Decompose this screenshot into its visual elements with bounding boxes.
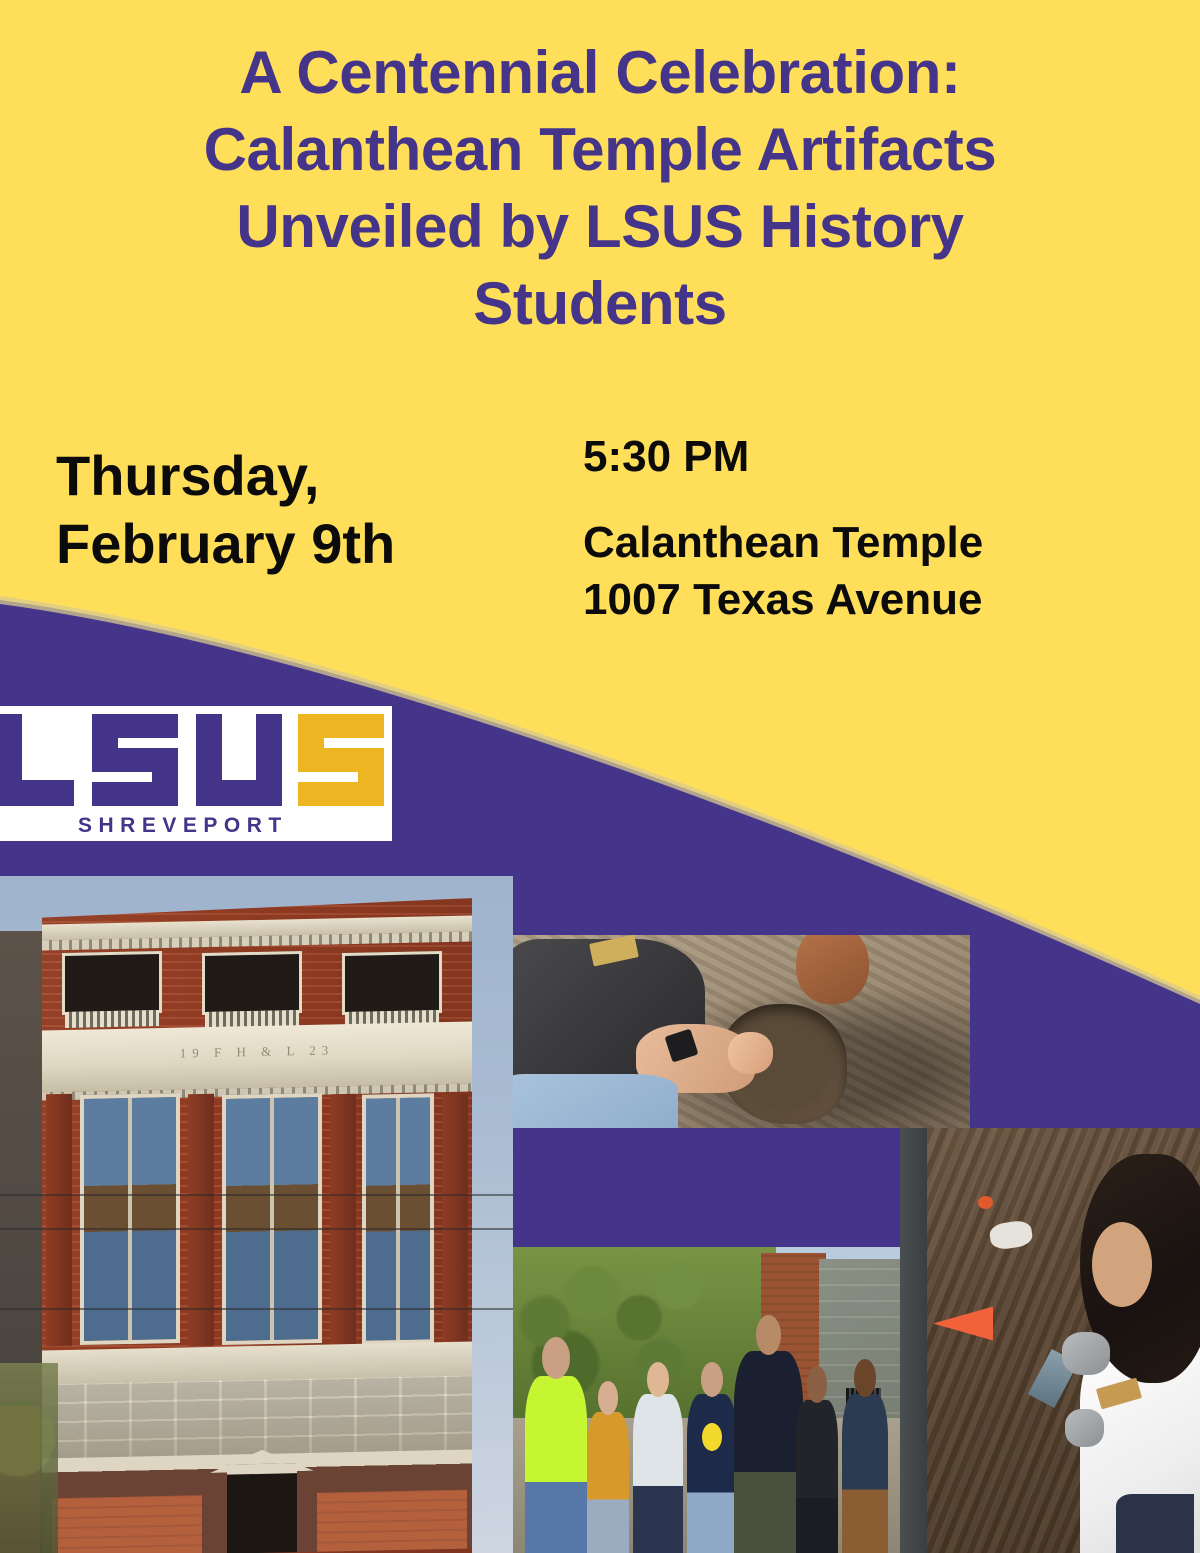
person-navy-tshirt — [687, 1394, 737, 1553]
event-time: 5:30 PM — [583, 430, 1143, 484]
student-hand — [728, 1032, 774, 1074]
logo-letter-s1 — [92, 714, 178, 806]
boarded-opening — [317, 1490, 467, 1552]
building-facade: 19 F H & L 23 — [42, 898, 472, 1553]
power-line — [0, 1194, 513, 1196]
boarded-opening — [52, 1495, 202, 1553]
logo-letter-s2 — [298, 714, 384, 806]
student-pants — [1116, 1494, 1194, 1553]
person-green-shirt — [525, 1376, 587, 1553]
head — [598, 1381, 618, 1415]
headline-line-3: Unveiled by LSUS History — [60, 188, 1140, 265]
person-instructor — [734, 1351, 804, 1553]
event-time-and-venue: 5:30 PM Calanthean Temple 1007 Texas Ave… — [583, 430, 1143, 628]
head — [807, 1366, 827, 1403]
third-floor-window — [342, 951, 442, 1015]
work-glove — [1065, 1409, 1104, 1447]
event-venue-address: 1007 Texas Avenue — [583, 571, 1143, 628]
vegetation — [0, 1363, 58, 1553]
event-poster: A Centennial Celebration: Calanthean Tem… — [0, 0, 1200, 1553]
event-venue: Calanthean Temple 1007 Texas Avenue — [583, 514, 1143, 628]
photo-student-excavating-with-flag — [900, 1128, 1200, 1553]
third-floor-window — [202, 951, 302, 1015]
power-line — [0, 1228, 513, 1230]
trench-wall — [900, 1128, 927, 1553]
storefront — [42, 1449, 472, 1553]
photo-student-group — [513, 1247, 900, 1553]
entrance-door — [227, 1463, 297, 1553]
headline-line-1: A Centennial Celebration: — [60, 34, 1140, 111]
survey-marker — [978, 1196, 993, 1209]
lsus-logo: SHREVEPORT — [0, 706, 392, 841]
photo-student-excavating — [513, 935, 970, 1128]
head — [756, 1315, 781, 1355]
event-date-line-1: Thursday, — [56, 442, 516, 510]
power-line — [0, 1308, 513, 1310]
third-floor-window — [62, 951, 162, 1015]
page-title: A Centennial Celebration: Calanthean Tem… — [60, 34, 1140, 342]
student-jeans — [513, 1074, 678, 1128]
person-white-shirt — [633, 1394, 683, 1553]
event-date-line-2: February 9th — [56, 510, 516, 578]
student-face — [1092, 1222, 1152, 1307]
person-blue-jacket — [842, 1394, 888, 1553]
shirt-badge — [702, 1423, 722, 1452]
person-dark-jacket — [796, 1400, 839, 1553]
logo-subtitle: SHREVEPORT — [78, 814, 288, 837]
headline-line-4: Students — [60, 265, 1140, 342]
photo-calanthean-temple-building: 19 F H & L 23 — [0, 876, 513, 1553]
event-date: Thursday, February 9th — [56, 442, 516, 578]
person-mustard-jacket — [587, 1412, 630, 1553]
event-venue-name: Calanthean Temple — [583, 514, 1143, 571]
work-glove — [1062, 1332, 1110, 1375]
headline-line-2: Calanthean Temple Artifacts — [60, 111, 1140, 188]
stone-base-course — [42, 1375, 472, 1459]
